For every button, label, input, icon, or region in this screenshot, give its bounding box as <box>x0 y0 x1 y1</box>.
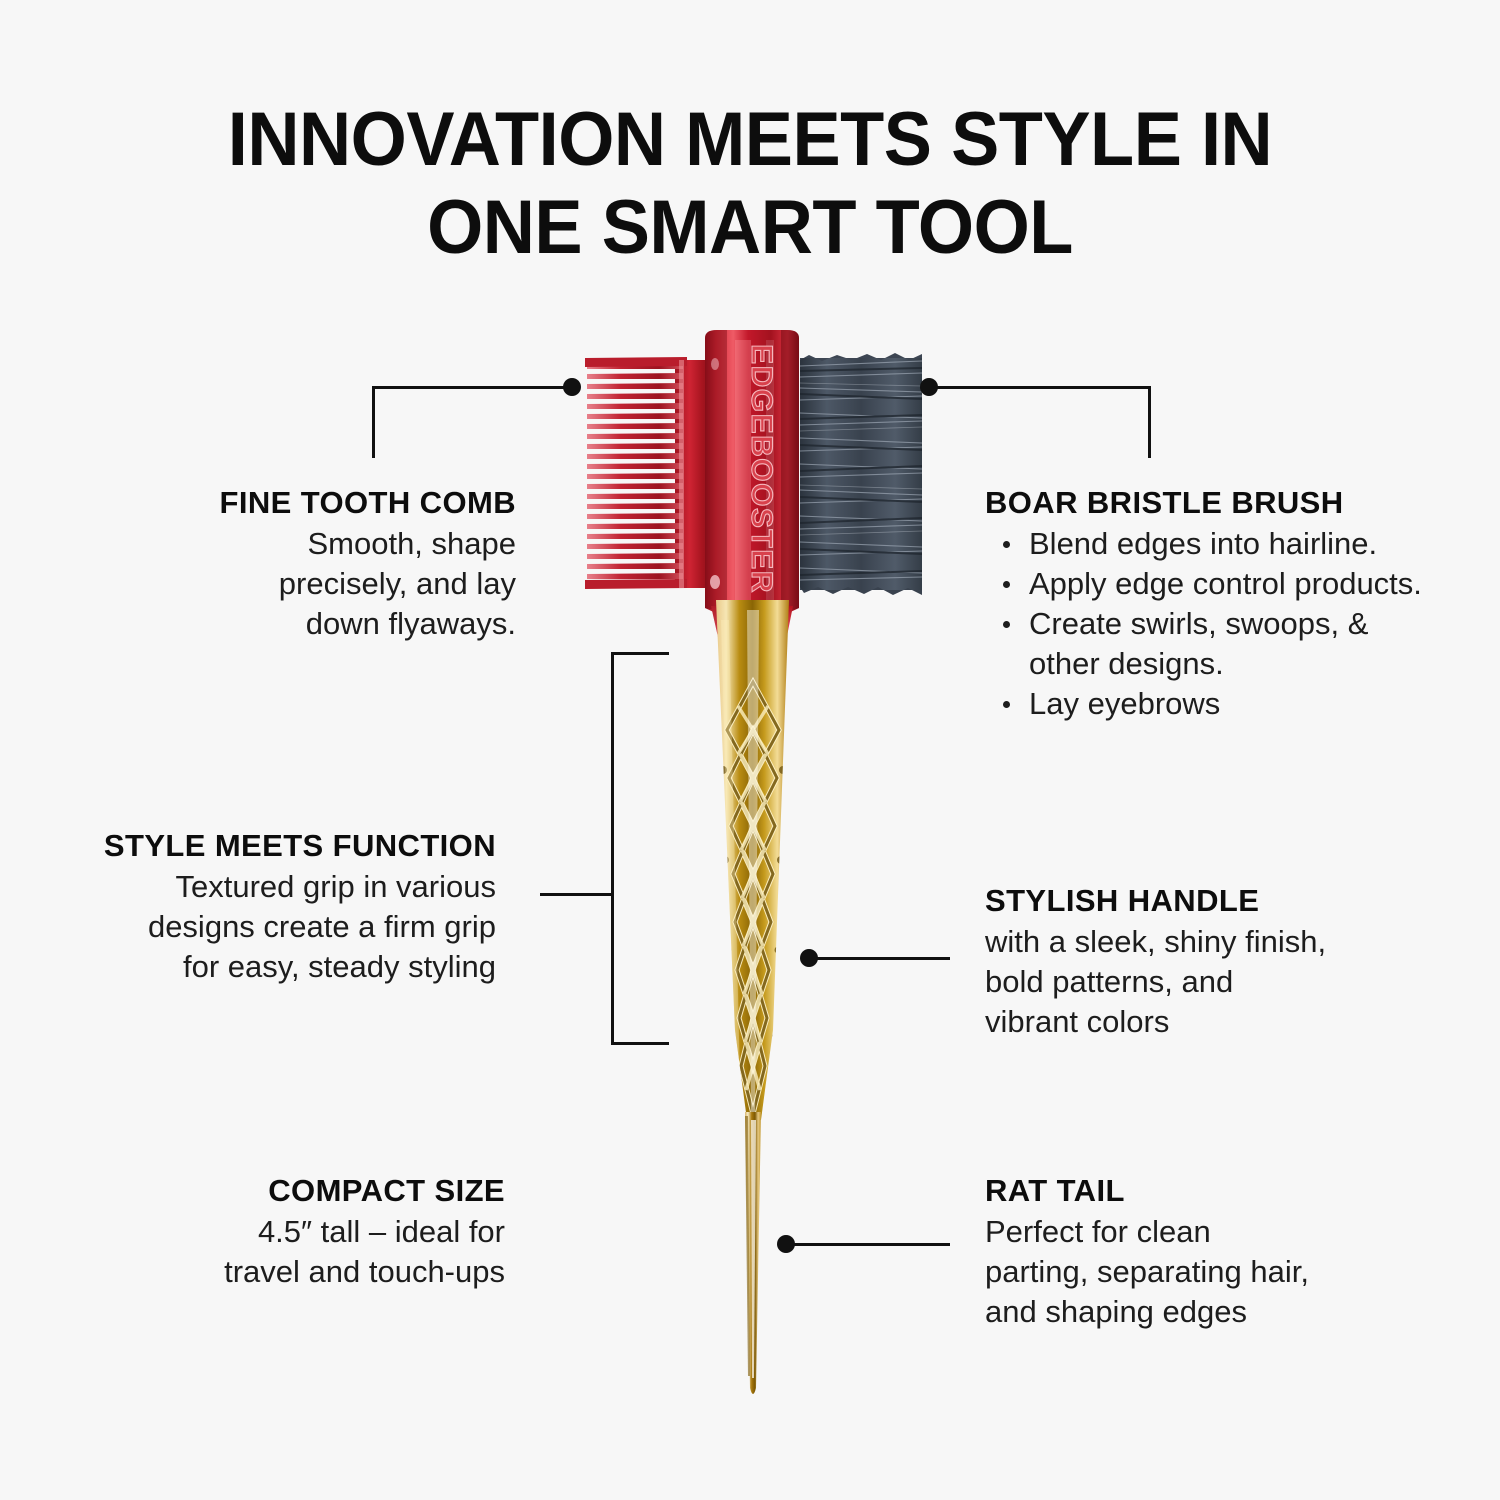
red-head-body: EDGEBOOSTER <box>705 330 799 630</box>
callout-line: with a sleek, shiny finish, <box>985 922 1385 962</box>
callout-heading-boar-bristle-brush: BOAR BRISTLE BRUSH <box>985 484 1425 522</box>
callout-line: and shaping edges <box>985 1292 1375 1332</box>
leader-segment-h-handle <box>809 957 950 960</box>
callout-boar-bristle-brush: BOAR BRISTLE BRUSH Blend edges into hair… <box>985 484 1425 724</box>
page-title: INNOVATION MEETS STYLE IN ONE SMART TOOL <box>0 96 1500 272</box>
callout-compact-size: COMPACT SIZE 4.5″ tall – ideal for trave… <box>190 1172 505 1292</box>
bullet-text: Apply edge control products. <box>1029 566 1422 601</box>
leader-segment-v-brush <box>1148 386 1151 458</box>
stylish-handle-grip <box>716 600 789 1120</box>
callout-line: 4.5″ tall – ideal for <box>190 1212 505 1252</box>
callout-body-style-meets-function: Textured grip in various designs create … <box>101 867 496 987</box>
leader-segment-h-rat-tail <box>786 1243 950 1246</box>
callout-line: Perfect for clean <box>985 1212 1375 1252</box>
title-line-1: INNOVATION MEETS STYLE IN <box>38 96 1463 184</box>
callout-line: designs create a firm grip <box>101 907 496 947</box>
list-item: Blend edges into hairline. <box>985 524 1425 564</box>
callout-line: for easy, steady styling <box>101 947 496 987</box>
callout-rat-tail: RAT TAIL Perfect for clean parting, sepa… <box>985 1172 1375 1332</box>
fine-tooth-comb-part <box>585 357 717 589</box>
callout-line: travel and touch-ups <box>190 1252 505 1292</box>
callout-style-meets-function: STYLE MEETS FUNCTION Textured grip in va… <box>101 827 496 987</box>
callout-heading-style-meets-function: STYLE MEETS FUNCTION <box>101 827 496 865</box>
bullet-dot-icon <box>1003 581 1010 588</box>
callout-heading-fine-tooth-comb: FINE TOOTH COMB <box>196 484 516 522</box>
bracket-spine <box>611 652 614 1045</box>
product-image-edgebooster-brush: EDGEBOOSTER <box>575 330 930 1420</box>
bullet-dot-icon <box>1003 621 1010 628</box>
callout-heading-rat-tail: RAT TAIL <box>985 1172 1375 1210</box>
leader-segment-h-brush <box>929 386 1151 389</box>
callout-body-compact-size: 4.5″ tall – ideal for travel and touch-u… <box>190 1212 505 1292</box>
title-line-2: ONE SMART TOOL <box>38 184 1463 272</box>
list-item: Lay eyebrows <box>985 684 1425 724</box>
callout-line: bold patterns, and <box>985 962 1385 1002</box>
brand-emboss-text: EDGEBOOSTER <box>745 344 778 594</box>
list-item: Create swirls, swoops, & other designs. <box>985 604 1425 684</box>
callout-line: vibrant colors <box>985 1002 1385 1042</box>
bullet-dot-icon <box>1003 701 1010 708</box>
bullet-text: Create swirls, swoops, & other designs. <box>1029 606 1368 681</box>
infographic-canvas: INNOVATION MEETS STYLE IN ONE SMART TOOL <box>0 0 1500 1500</box>
boar-bristle-brush-part <box>800 353 922 595</box>
leader-segment-h-comb <box>372 386 572 389</box>
callout-bullet-list-boar-bristle-brush: Blend edges into hairline. Apply edge co… <box>985 524 1425 724</box>
bracket-arm-bottom <box>611 1042 669 1045</box>
callout-heading-stylish-handle: STYLISH HANDLE <box>985 882 1385 920</box>
callout-body-stylish-handle: with a sleek, shiny finish, bold pattern… <box>985 922 1385 1042</box>
bullet-text: Lay eyebrows <box>1029 686 1220 721</box>
callout-line: precisely, and lay <box>196 564 516 604</box>
callout-fine-tooth-comb: FINE TOOTH COMB Smooth, shape precisely,… <box>196 484 516 644</box>
bullet-text: Blend edges into hairline. <box>1029 526 1377 561</box>
callout-line: Smooth, shape <box>196 524 516 564</box>
bracket-arm-top <box>611 652 669 655</box>
list-item: Apply edge control products. <box>985 564 1425 604</box>
callout-body-rat-tail: Perfect for clean parting, separating ha… <box>985 1212 1375 1332</box>
callout-stylish-handle: STYLISH HANDLE with a sleek, shiny finis… <box>985 882 1385 1042</box>
bracket-stem <box>540 893 614 896</box>
callout-heading-compact-size: COMPACT SIZE <box>190 1172 505 1210</box>
callout-line: down flyaways. <box>196 604 516 644</box>
callout-line: Textured grip in various <box>101 867 496 907</box>
bullet-dot-icon <box>1003 541 1010 548</box>
callout-line: parting, separating hair, <box>985 1252 1375 1292</box>
leader-segment-v-comb <box>372 386 375 458</box>
callout-body-fine-tooth-comb: Smooth, shape precisely, and lay down fl… <box>196 524 516 644</box>
rat-tail-part <box>745 1112 761 1394</box>
